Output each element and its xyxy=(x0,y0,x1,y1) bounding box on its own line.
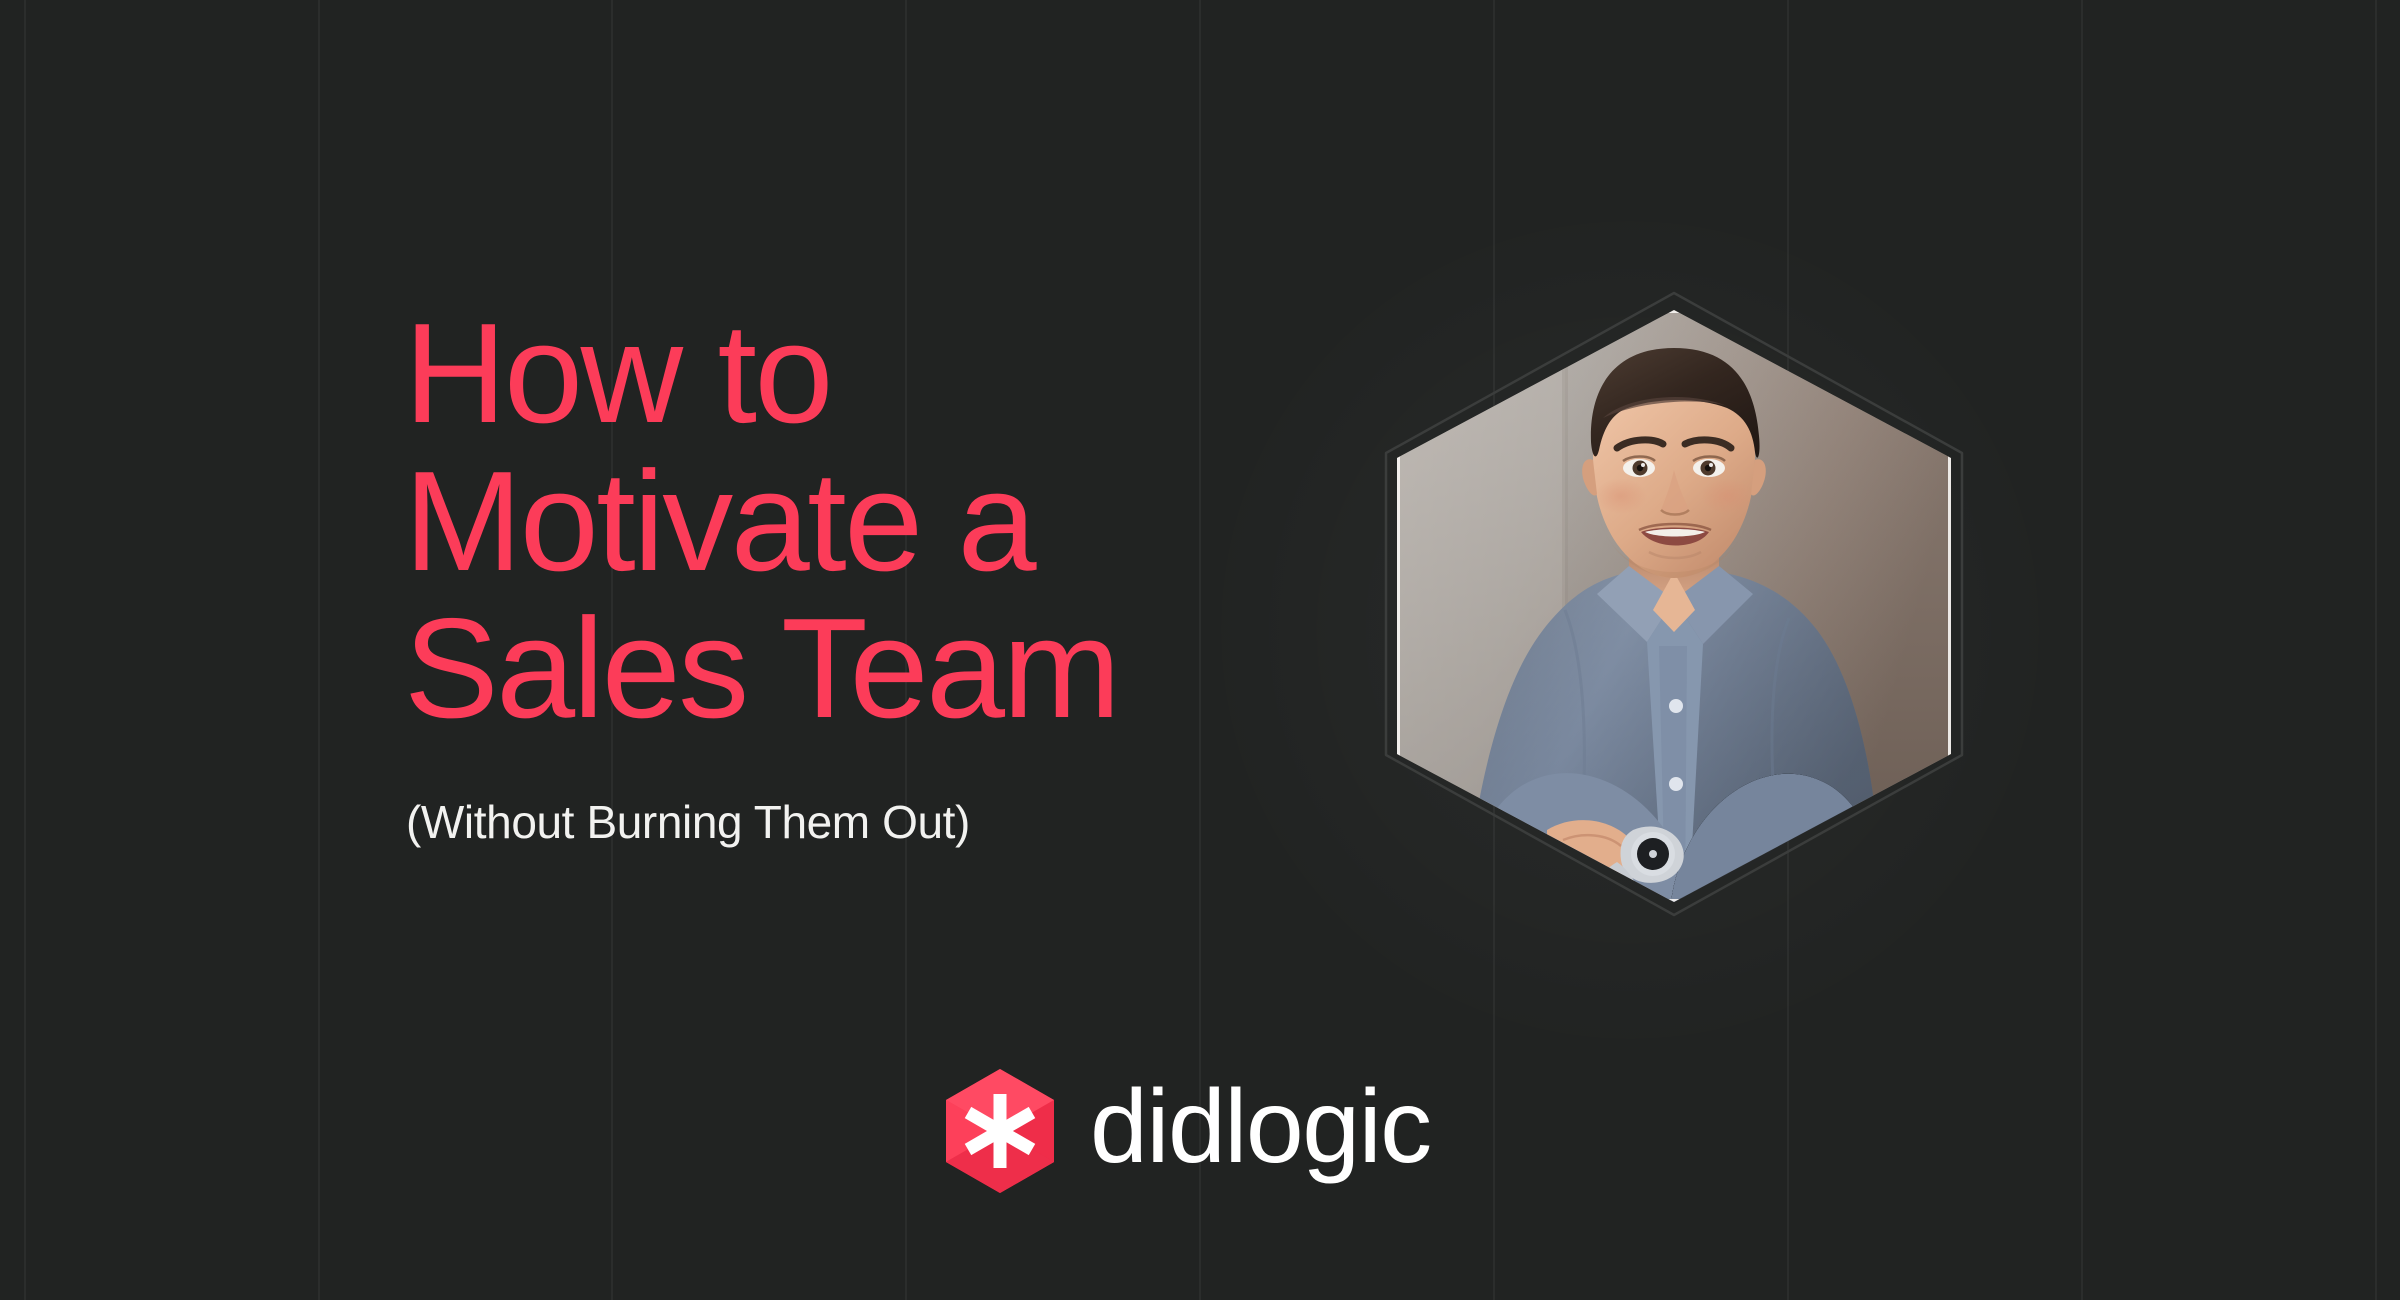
cover-canvas: How to Motivate a Sales Team (Without Bu… xyxy=(0,0,2400,1300)
page-title: How to Motivate a Sales Team xyxy=(404,300,1344,743)
brand-wordmark: didlogic xyxy=(1090,1075,1431,1187)
grid-line-7 xyxy=(2081,0,2083,1300)
hexagon-asterisk-icon xyxy=(944,1068,1056,1194)
grid-line-8 xyxy=(2375,0,2377,1300)
grid-line-1 xyxy=(318,0,320,1300)
brand-logo[interactable]: didlogic xyxy=(944,1068,1431,1194)
portrait-figure xyxy=(1376,285,1972,923)
page-subtitle: (Without Burning Them Out) xyxy=(404,743,1344,849)
hero-text-block: How to Motivate a Sales Team (Without Bu… xyxy=(404,300,1344,849)
grid-line-0 xyxy=(24,0,26,1300)
